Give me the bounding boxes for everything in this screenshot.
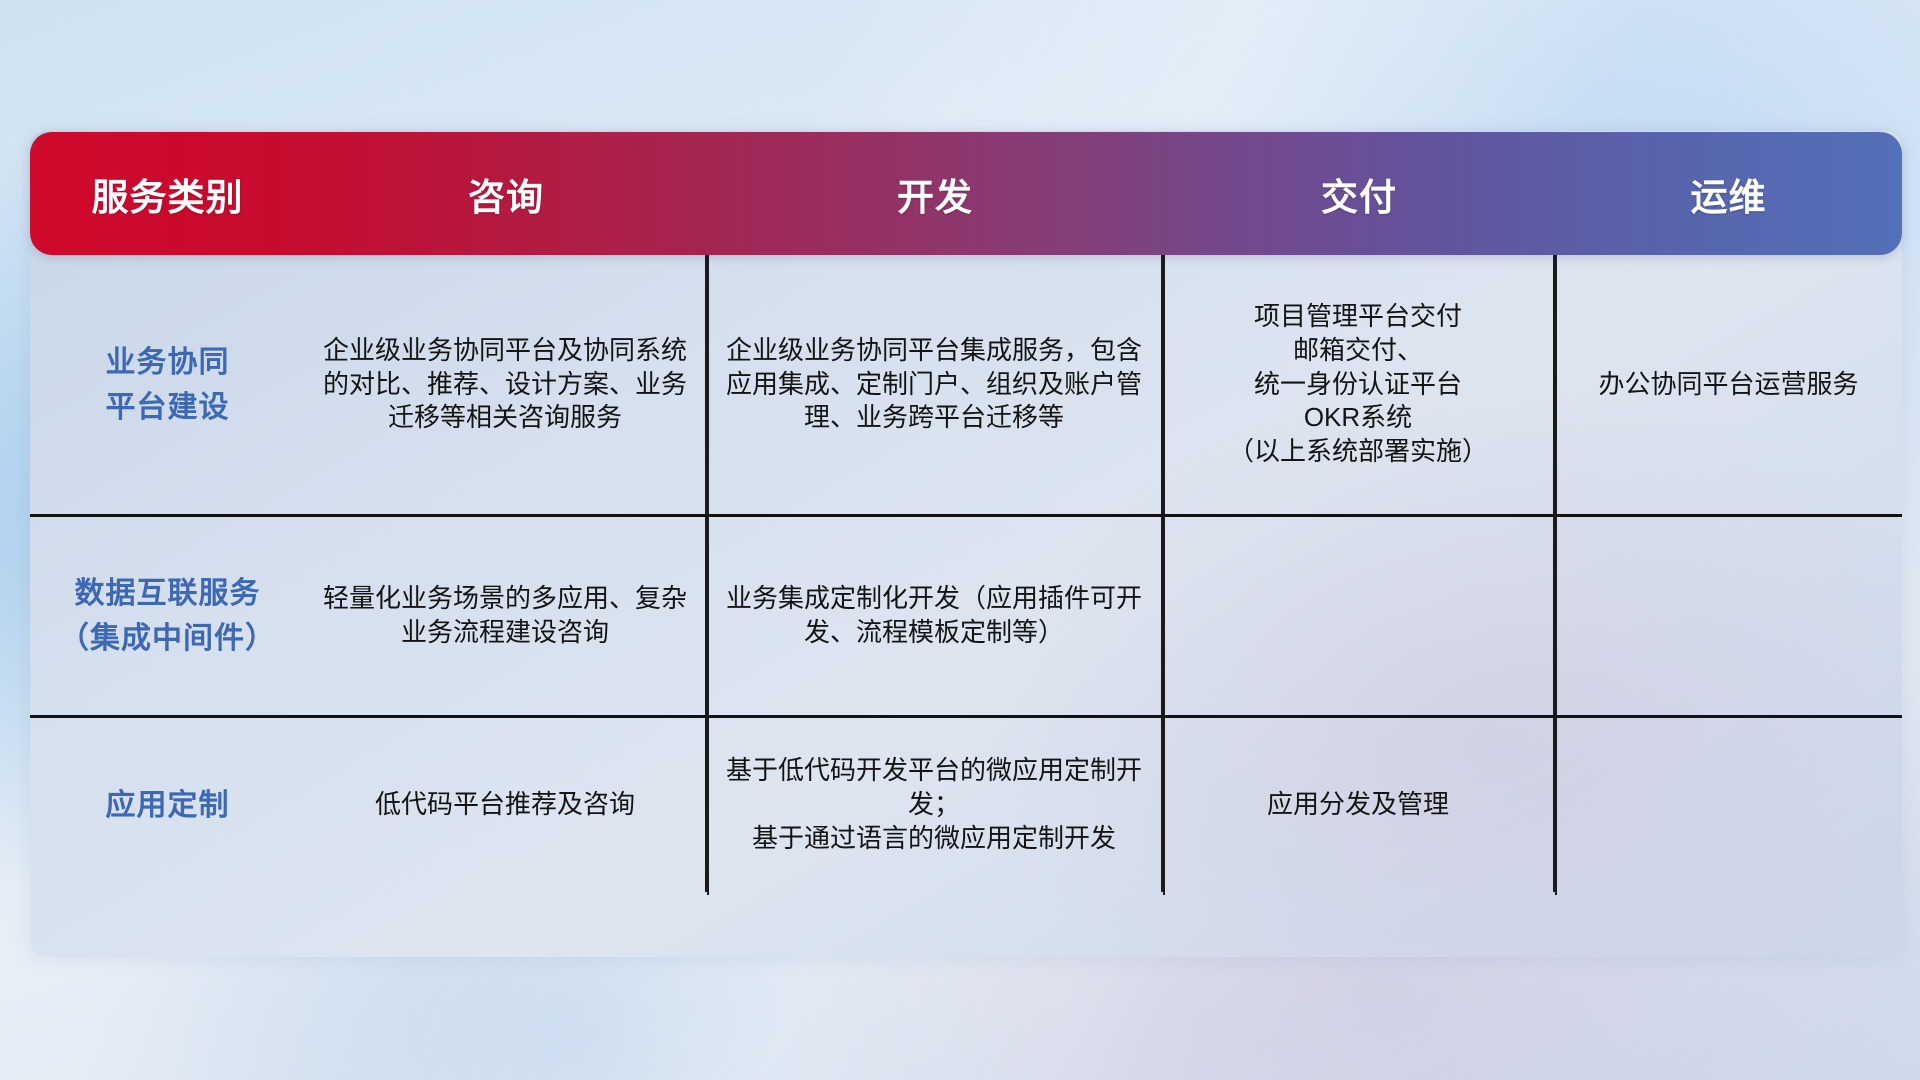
- column-divider: [707, 255, 709, 895]
- table-row: 数据互联服务（集成中间件） 轻量化业务场景的多应用、复杂业务流程建设咨询 业务集…: [30, 517, 1902, 718]
- cell-delivery: 项目管理平台交付邮箱交付、统一身份认证平台OKR系统（以上系统部署实施）: [1163, 255, 1555, 514]
- cell-operations: 办公协同平台运营服务: [1555, 255, 1902, 514]
- table-row: 应用定制 低代码平台推荐及咨询 基于低代码开发平台的微应用定制开发；基于通过语言…: [30, 718, 1902, 892]
- column-header-consulting: 咨询: [305, 167, 707, 221]
- row-label-cell: 数据互联服务（集成中间件）: [30, 517, 305, 715]
- column-divider: [1555, 255, 1557, 895]
- cell-delivery: [1163, 517, 1555, 715]
- column-divider: [1163, 255, 1165, 895]
- column-header-operations: 运维: [1555, 167, 1902, 221]
- cell-consulting: 轻量化业务场景的多应用、复杂业务流程建设咨询: [305, 517, 707, 715]
- row-label-cell: 应用定制: [30, 718, 305, 892]
- cell-development: 基于低代码开发平台的微应用定制开发；基于通过语言的微应用定制开发: [707, 718, 1163, 892]
- row-label-cell: 业务协同平台建设: [30, 255, 305, 514]
- cell-development: 企业级业务协同平台集成服务，包含应用集成、定制门户、组织及账户管理、业务跨平台迁…: [707, 255, 1163, 514]
- cell-consulting: 低代码平台推荐及咨询: [305, 718, 707, 892]
- table-row: 业务协同平台建设 企业级业务协同平台及协同系统的对比、推荐、设计方案、业务迁移等…: [30, 255, 1902, 517]
- column-header-delivery: 交付: [1163, 167, 1555, 221]
- cell-operations: [1555, 517, 1902, 715]
- cell-consulting: 企业级业务协同平台及协同系统的对比、推荐、设计方案、业务迁移等相关咨询服务: [305, 255, 707, 514]
- cell-delivery: 应用分发及管理: [1163, 718, 1555, 892]
- cell-development: 业务集成定制化开发（应用插件可开发、流程模板定制等）: [707, 517, 1163, 715]
- cell-operations: [1555, 718, 1902, 892]
- table-body: 业务协同平台建设 企业级业务协同平台及协同系统的对比、推荐、设计方案、业务迁移等…: [30, 255, 1902, 895]
- column-header-category: 服务类别: [30, 167, 305, 221]
- table-header-row: 服务类别 咨询 开发 交付 运维: [30, 132, 1902, 255]
- column-header-development: 开发: [707, 167, 1163, 221]
